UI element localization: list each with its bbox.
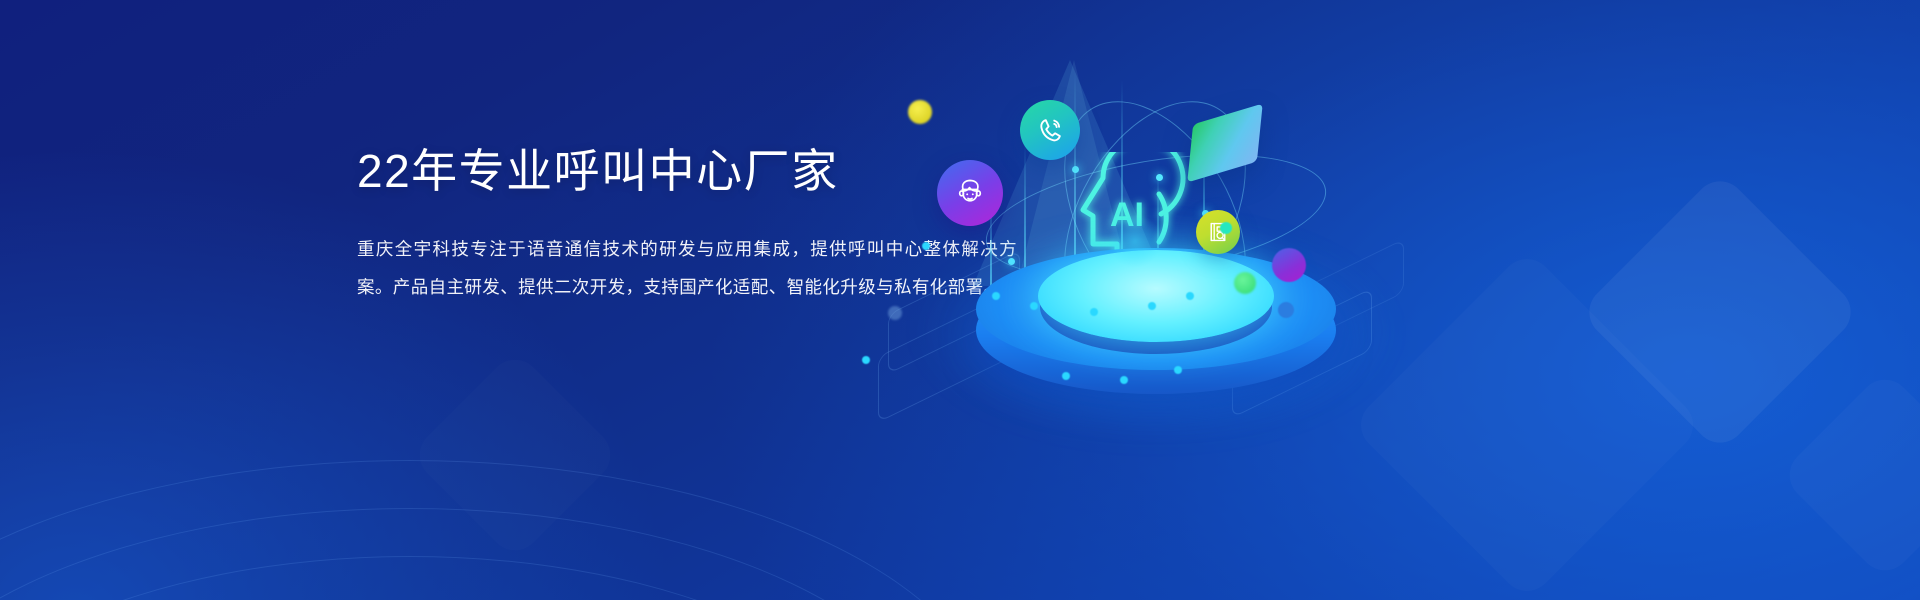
decorative-dot-purple (1272, 248, 1306, 282)
hero-banner: 22年专业呼叫中心厂家 重庆全宇科技专注于语音通信技术的研发与应用集成，提供呼叫… (0, 0, 1920, 600)
headset-agent-icon[interactable] (937, 160, 1003, 226)
phone-call-icon[interactable] (1020, 100, 1080, 160)
decorative-dot-cyan-small (922, 242, 930, 250)
glow-speck (1186, 292, 1194, 300)
glow-speck (1062, 372, 1070, 380)
decorative-dot-green (1234, 272, 1256, 294)
glow-speck (1148, 302, 1156, 310)
glow-speck (1030, 302, 1038, 310)
glow-speck (992, 292, 1000, 300)
decorative-dot-cyan-small (862, 356, 870, 364)
document-search-icon[interactable] (1196, 210, 1240, 254)
decorative-dot-cyan (1220, 222, 1232, 234)
diamond-shape-small (1779, 369, 1920, 581)
glow-speck (1174, 366, 1182, 374)
glow-speck (1090, 308, 1098, 316)
glow-halo (1108, 214, 1162, 268)
podium-disc (1038, 250, 1274, 342)
decorative-dot-yellow (908, 100, 932, 124)
hero-illustration: AI (880, 0, 1640, 600)
diamond-shape-faint (409, 349, 621, 561)
decorative-dot-blue (1278, 302, 1294, 318)
glow-speck (1120, 376, 1128, 384)
decorative-dot-slate (888, 306, 902, 320)
